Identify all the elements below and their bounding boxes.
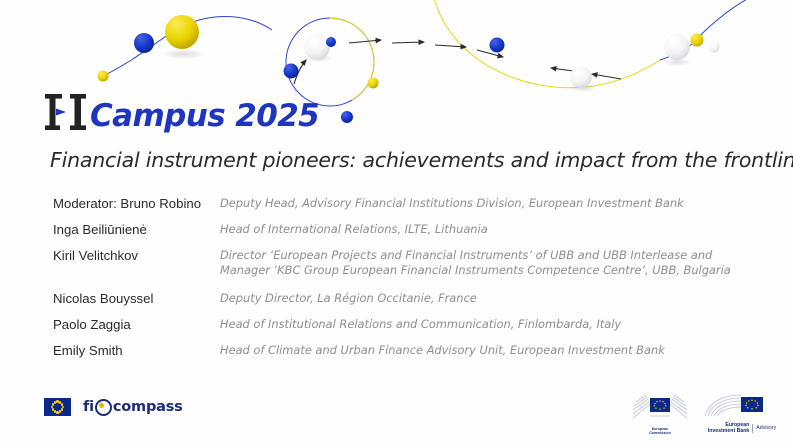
speaker-role-line1: Head of Climate and Urban Finance Adviso… bbox=[220, 343, 665, 357]
campus-wordmark: Campus 2025 bbox=[90, 101, 319, 132]
compass-icon bbox=[95, 399, 112, 416]
speaker-role-line1: Deputy Head, Advisory Financial Institut… bbox=[220, 196, 684, 210]
eu-star bbox=[56, 411, 59, 414]
speaker-name: Emily Smith bbox=[53, 343, 220, 358]
eib-divider bbox=[752, 424, 753, 433]
speaker-role: Head of Institutional Relations and Comm… bbox=[220, 317, 753, 332]
speaker-name: Nicolas Bouyssel bbox=[53, 291, 220, 306]
list-item: Emily Smith Head of Climate and Urban Fi… bbox=[53, 343, 753, 358]
list-item: Moderator: Bruno Robino Deputy Head, Adv… bbox=[53, 196, 753, 211]
list-item: Paolo Zaggia Head of Institutional Relat… bbox=[53, 317, 753, 332]
institution-logos: European Commission bbox=[631, 392, 785, 436]
speaker-role-line1: Director ‘European Projects and Financia… bbox=[220, 248, 712, 262]
eu-star bbox=[54, 401, 57, 404]
eib-caption: European Investment Bank Advisory bbox=[699, 422, 785, 434]
speaker-role-line1: Head of International Relations, ILTE, L… bbox=[220, 222, 488, 236]
fi-monogram-icon bbox=[44, 92, 88, 134]
speaker-list: Moderator: Bruno Robino Deputy Head, Adv… bbox=[53, 196, 753, 369]
list-item: Inga Beiliūnienė Head of International R… bbox=[53, 222, 753, 237]
brand-lockup: Campus 2025 bbox=[44, 92, 319, 134]
eu-star bbox=[52, 408, 55, 411]
ficompass-wordmark: fi compass bbox=[83, 399, 183, 416]
page-title: Financial instrument pioneers: achieveme… bbox=[50, 148, 770, 172]
speaker-role: Director ‘European Projects and Financia… bbox=[220, 248, 753, 278]
ficompass-fi-text: fi bbox=[83, 399, 94, 415]
eu-star bbox=[61, 408, 64, 411]
speaker-role-line1: Head of Institutional Relations and Comm… bbox=[220, 317, 621, 331]
list-item: Kiril Velitchkov Director ‘European Proj… bbox=[53, 248, 753, 278]
eu-star bbox=[54, 410, 57, 413]
list-item: Nicolas Bouyssel Deputy Director, La Rég… bbox=[53, 291, 753, 306]
ec-caption-line2: Commission bbox=[649, 431, 671, 435]
eib-advisory-label: Advisory bbox=[756, 425, 776, 431]
ec-caption-line1: European bbox=[652, 427, 669, 431]
ficompass-compass-text: compass bbox=[113, 399, 183, 415]
eib-name: European Investment Bank bbox=[708, 422, 750, 434]
speaker-role: Deputy Head, Advisory Financial Institut… bbox=[220, 196, 753, 211]
european-commission-caption: European Commission bbox=[631, 427, 689, 436]
speaker-name: Moderator: Bruno Robino bbox=[53, 196, 220, 211]
ficompass-logo: fi compass bbox=[44, 398, 183, 416]
speaker-role: Head of International Relations, ILTE, L… bbox=[220, 222, 753, 237]
slide-root: Campus 2025 Financial instrument pioneer… bbox=[0, 0, 793, 446]
eib-advisory-logo: European Investment Bank Advisory bbox=[699, 392, 785, 436]
speaker-role: Head of Climate and Urban Finance Adviso… bbox=[220, 343, 753, 358]
speaker-name: Paolo Zaggia bbox=[53, 317, 220, 332]
speaker-role-line1: Deputy Director, La Région Occitanie, Fr… bbox=[220, 291, 477, 305]
european-commission-logo: European Commission bbox=[631, 392, 689, 436]
speaker-role-line2: Manager ‘KBC Group European Financial In… bbox=[220, 263, 753, 278]
eib-name-line2: Investment Bank bbox=[708, 428, 750, 434]
speaker-name: Kiril Velitchkov bbox=[53, 248, 220, 263]
speaker-role: Deputy Director, La Région Occitanie, Fr… bbox=[220, 291, 753, 306]
eu-flag-icon bbox=[44, 398, 71, 416]
speaker-name: Inga Beiliūnienė bbox=[53, 222, 220, 237]
